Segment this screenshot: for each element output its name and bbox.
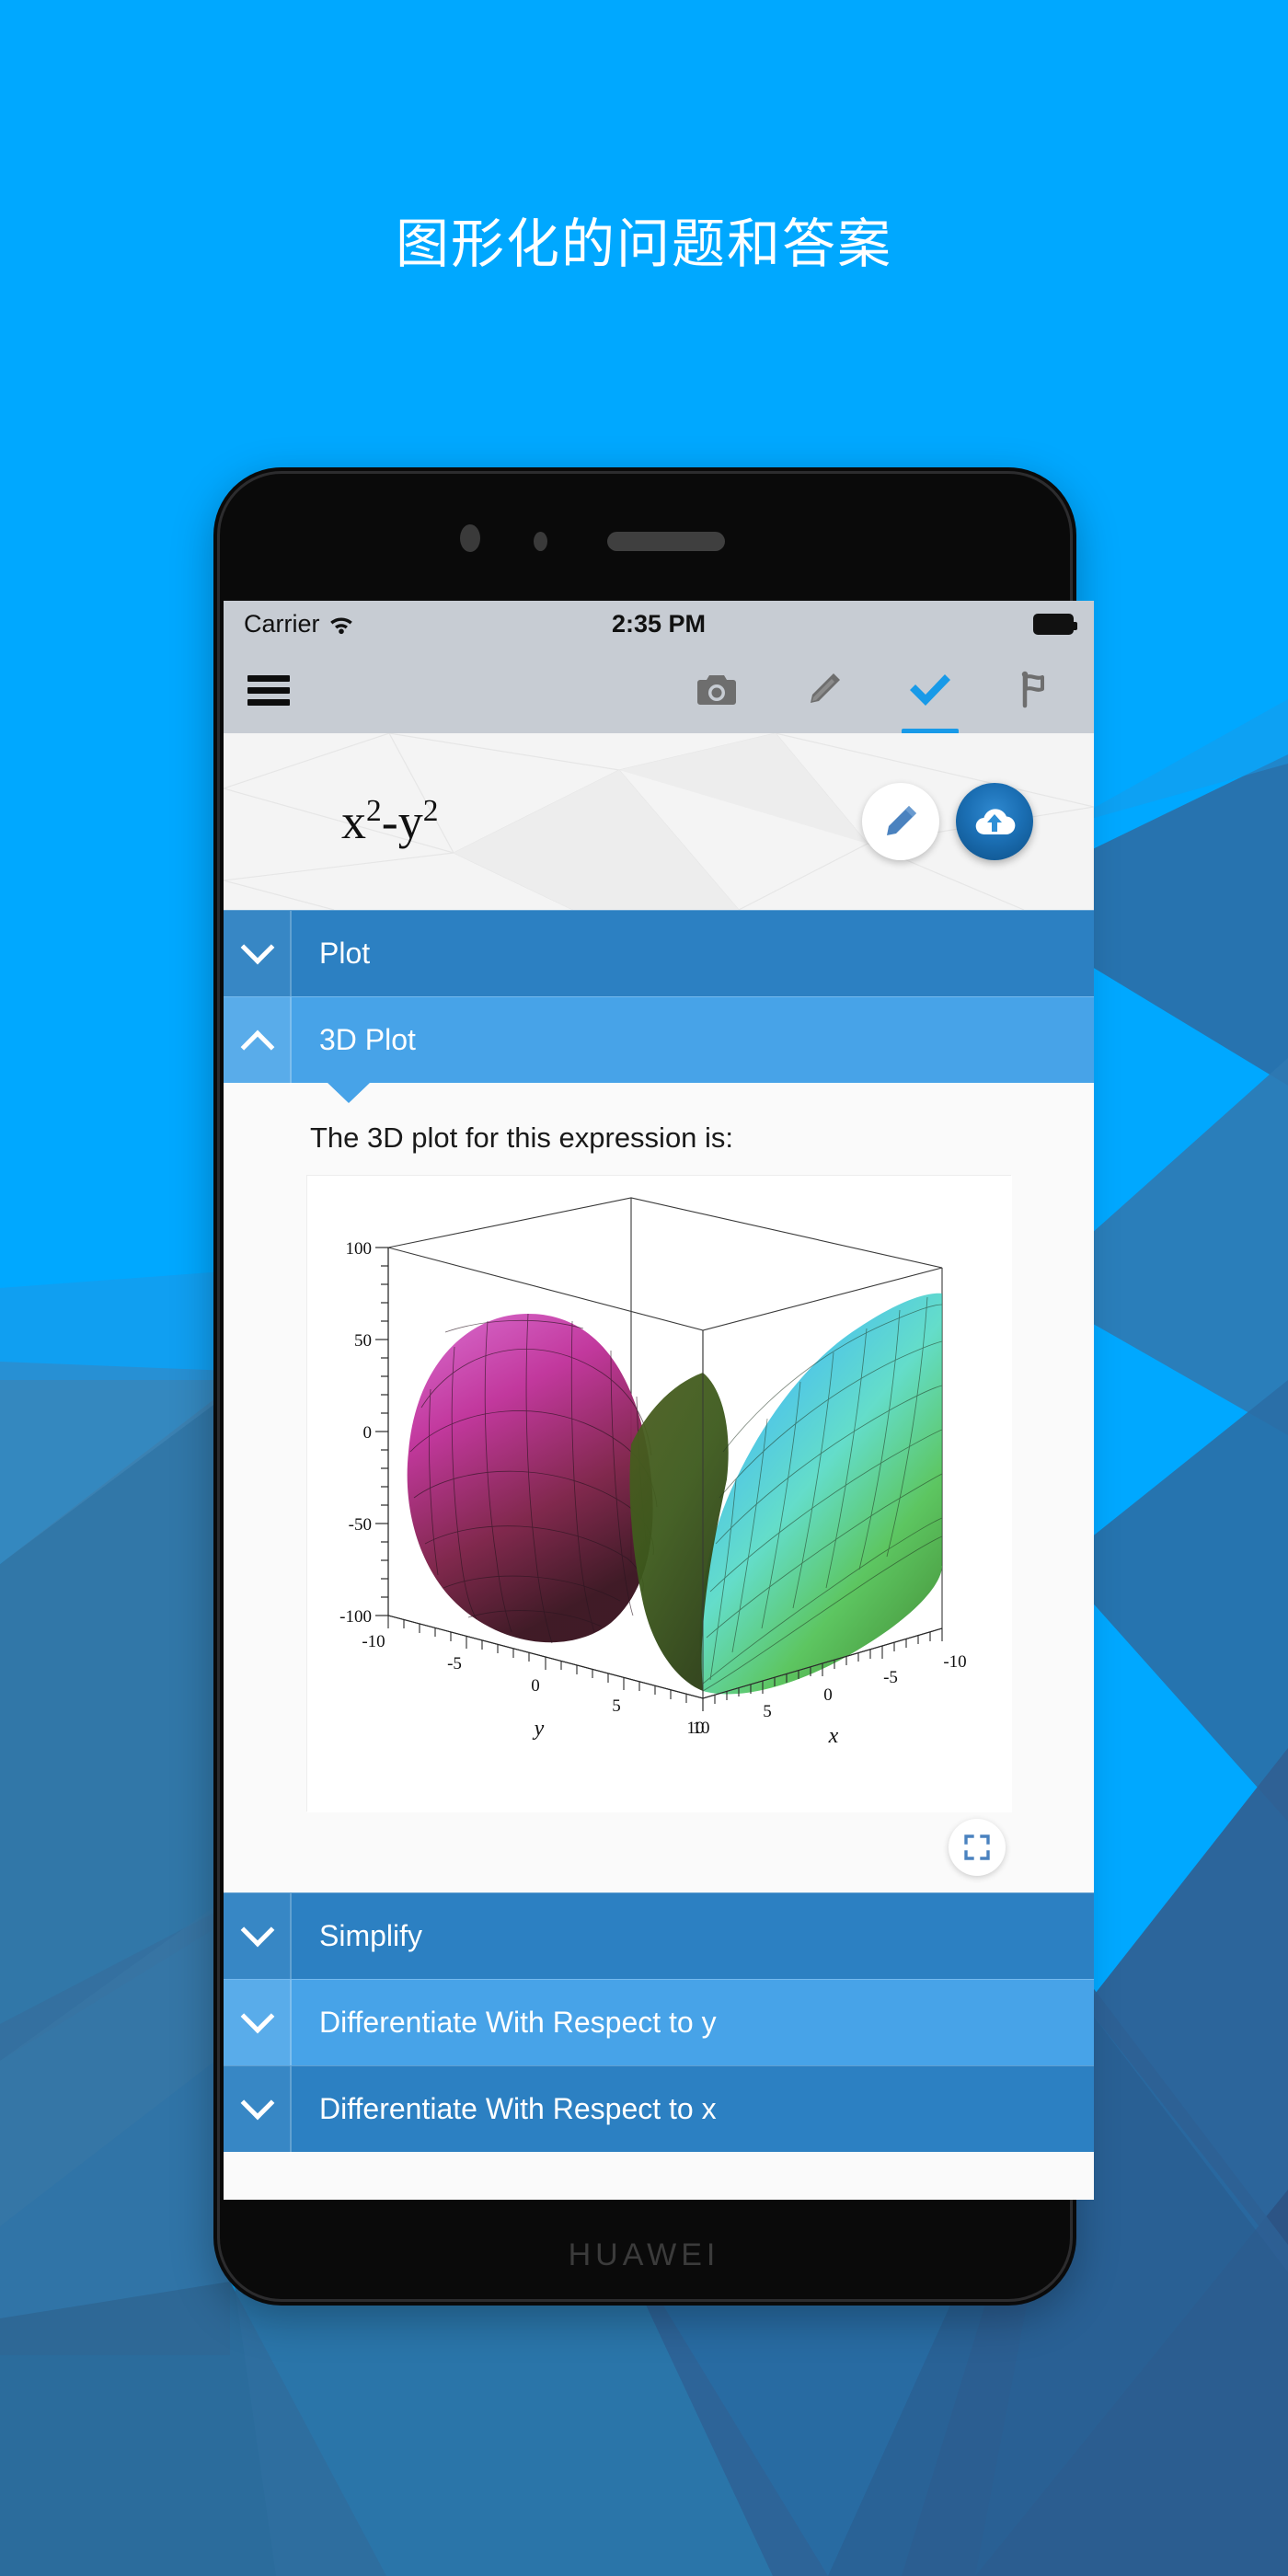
y-axis-label: y: [533, 1717, 545, 1741]
section-label-differentiate-x: Differentiate With Respect to x: [292, 2066, 717, 2152]
expression-base-2: y: [398, 794, 423, 849]
expression-operator: -: [382, 794, 398, 849]
camera-icon: [696, 672, 738, 708]
status-bar-right: [1033, 614, 1074, 635]
earpiece-speaker: [607, 532, 725, 551]
y-tick-neg10: -10: [362, 1632, 385, 1651]
toolbar-tabs: [693, 666, 1070, 714]
expression-bar: x2-y2: [224, 733, 1094, 910]
expression-exponent-2: 2: [423, 794, 439, 828]
section-header-plot[interactable]: Plot: [224, 910, 1094, 996]
front-camera-icon: [460, 524, 480, 552]
phone-brand-label: HUAWEI: [0, 2237, 1288, 2273]
section-label-differentiate-y: Differentiate With Respect to y: [292, 1980, 717, 2065]
check-icon: [906, 670, 954, 710]
section-label-simplify: Simplify: [292, 1893, 422, 1979]
section-header-3d-plot[interactable]: 3D Plot: [224, 996, 1094, 1083]
battery-full-icon: [1033, 614, 1074, 635]
y-tick-5: 5: [612, 1696, 621, 1716]
chevron-down-icon: [241, 2086, 275, 2120]
chevron-down-icon: [241, 1999, 275, 2033]
expression-base-1: x: [341, 794, 366, 849]
section-toggle-differentiate-x[interactable]: [224, 2066, 292, 2152]
tab-check[interactable]: [906, 666, 954, 714]
plot-3d-surface: 100 50 0 -50 -100: [307, 1176, 1012, 1812]
expression-display: x2-y2: [341, 793, 438, 850]
chevron-down-icon: [241, 930, 275, 964]
edit-expression-button[interactable]: [862, 783, 939, 860]
page-title: 图形化的问题和答案: [0, 201, 1288, 278]
section-pointer-arrow: [327, 1082, 371, 1103]
section-header-differentiate-y[interactable]: Differentiate With Respect to y: [224, 1979, 1094, 2065]
fullscreen-expand-icon: [963, 1834, 991, 1861]
expression-actions: [862, 783, 1033, 860]
page-root: 图形化的问题和答案 HUAWEI Carrier 2:35 PM: [0, 0, 1288, 2576]
tab-pencil[interactable]: [799, 666, 847, 714]
y-tick-neg5: -5: [447, 1654, 462, 1673]
section-toggle-3d-plot[interactable]: [224, 997, 292, 1083]
clock-label: 2:35 PM: [224, 610, 1094, 638]
flag-icon: [1017, 670, 1057, 710]
status-bar: Carrier 2:35 PM: [224, 601, 1094, 647]
tab-camera[interactable]: [693, 666, 741, 714]
x-tick-5: 5: [763, 1702, 772, 1721]
z-tick-50: 50: [354, 1331, 372, 1351]
x-tick-neg10: -10: [943, 1652, 966, 1672]
panel-3d-plot: The 3D plot for this expression is:: [224, 1083, 1094, 1892]
hamburger-menu-icon[interactable]: [247, 670, 290, 711]
plot-3d-container[interactable]: 100 50 0 -50 -100: [306, 1175, 1011, 1811]
x-tick-10: 10: [693, 1719, 710, 1738]
tab-flag[interactable]: [1013, 666, 1061, 714]
chevron-down-icon: [241, 1913, 275, 1947]
z-tick-100: 100: [346, 1239, 373, 1259]
pencil-edit-icon: [880, 801, 921, 842]
y-tick-0: 0: [531, 1676, 540, 1696]
x-tick-0: 0: [823, 1685, 833, 1705]
section-label-plot: Plot: [292, 911, 370, 996]
section-header-differentiate-x[interactable]: Differentiate With Respect to x: [224, 2065, 1094, 2152]
phone-screen: Carrier 2:35 PM: [224, 601, 1094, 2200]
upload-expression-button[interactable]: [956, 783, 1033, 860]
fullscreen-button[interactable]: [949, 1819, 1006, 1876]
z-tick-neg100: -100: [339, 1607, 372, 1627]
expression-exponent-1: 2: [366, 794, 382, 828]
cloud-upload-icon: [973, 803, 1016, 840]
proximity-sensor-icon: [534, 532, 547, 551]
z-tick-0: 0: [363, 1423, 373, 1443]
section-label-3d-plot: 3D Plot: [292, 997, 416, 1083]
section-toggle-simplify[interactable]: [224, 1893, 292, 1979]
section-toggle-plot[interactable]: [224, 911, 292, 996]
z-tick-neg50: -50: [349, 1515, 372, 1535]
app-toolbar: [224, 647, 1094, 733]
chevron-up-icon: [241, 1029, 275, 1064]
section-toggle-differentiate-y[interactable]: [224, 1980, 292, 2065]
x-axis-label: x: [828, 1724, 839, 1748]
x-tick-neg5: -5: [883, 1668, 898, 1687]
pencil-icon: [803, 670, 844, 710]
section-header-simplify[interactable]: Simplify: [224, 1892, 1094, 1979]
